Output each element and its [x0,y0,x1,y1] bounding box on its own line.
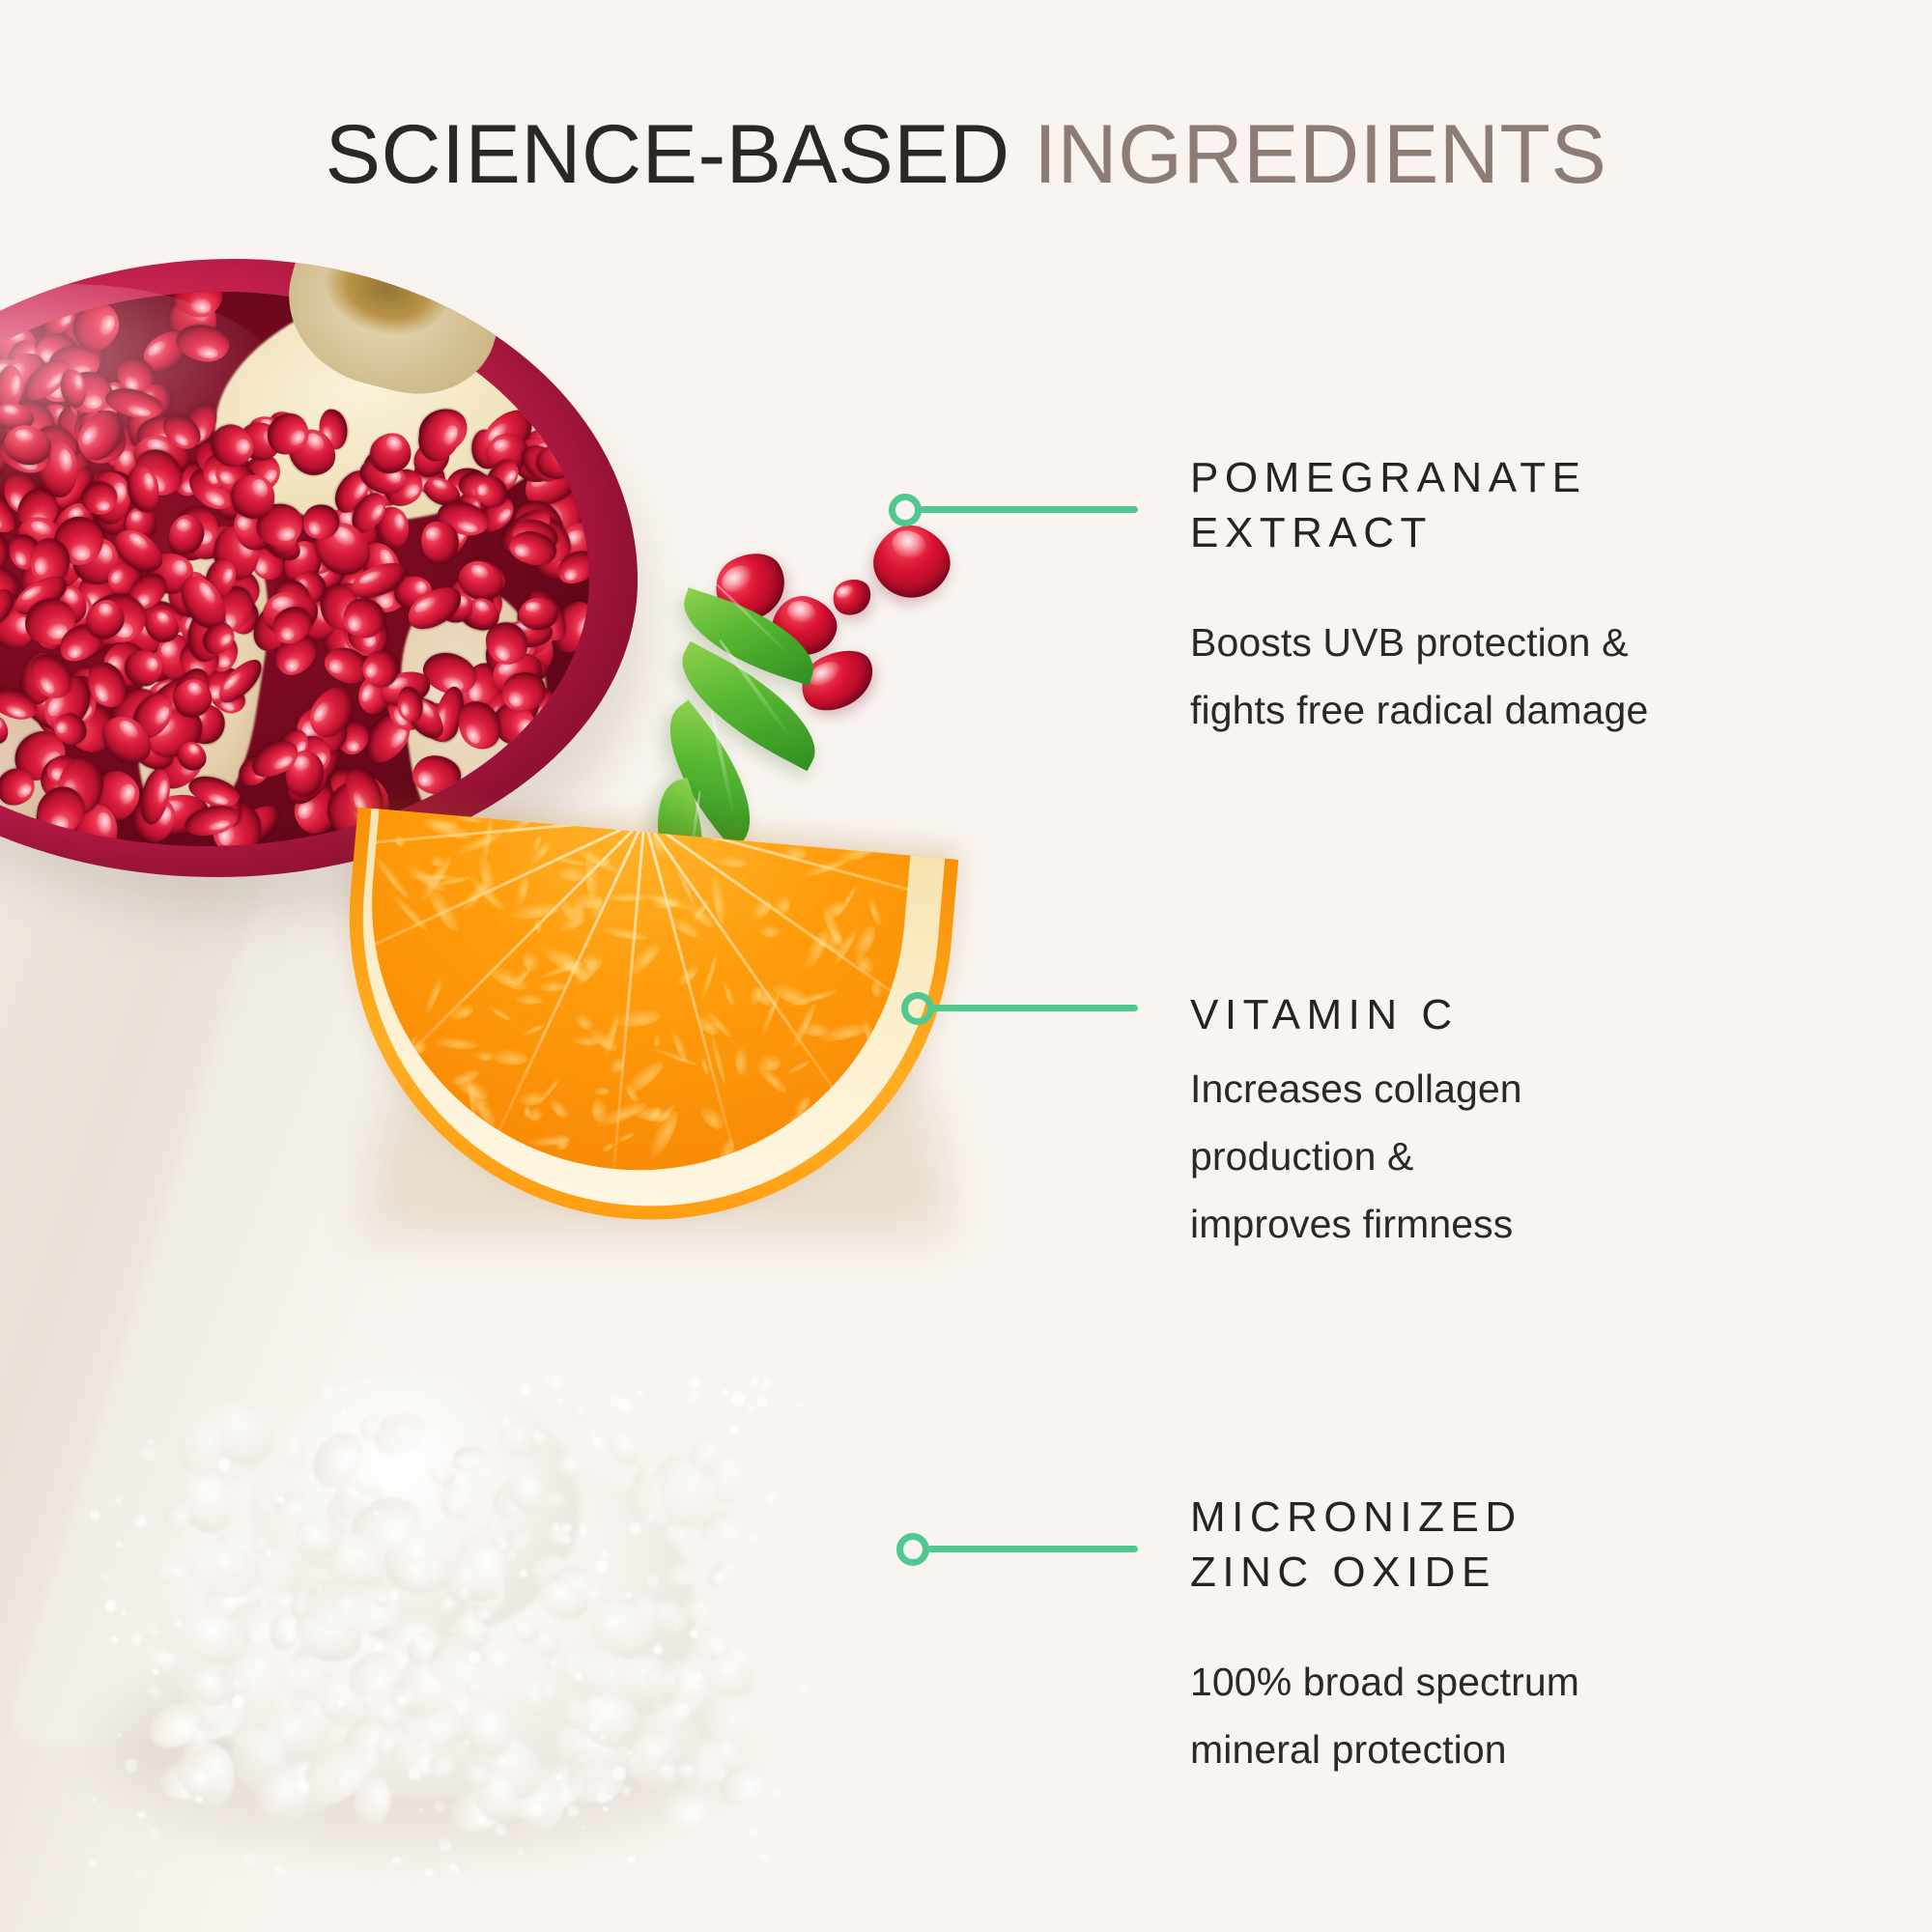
powder-speck [136,1873,140,1877]
powder-speck [597,1792,608,1803]
pomegranate-aril [168,292,227,322]
powder-speck [750,1828,758,1836]
powder-speck [105,1600,117,1611]
powder-speck [508,1551,516,1559]
pomegranate-aril [0,436,10,482]
powder-speck [612,1767,626,1780]
pomegranate-aril [64,371,111,415]
pomegranate-aril [0,359,31,395]
orange-pulp-highlight [783,1058,811,1076]
leader-line-pomegranate [920,506,1138,513]
powder-speck [757,1397,767,1406]
powder-clump [177,1416,223,1478]
pomegranate-aril [0,400,37,435]
orange-pulp-highlight [770,894,793,916]
powder-speck [561,1523,572,1534]
powder-speck [368,1696,374,1702]
powder-speck [469,1652,479,1662]
powder-speck [628,1856,636,1863]
powder-speck [731,1392,745,1406]
pomegranate-aril [102,384,165,424]
orange-pulp-highlight [654,1034,662,1048]
powder-speck [90,1510,99,1520]
pomegranate-aril [53,294,114,362]
orange-pulp-highlight [441,1102,463,1136]
powder-speck [589,1721,600,1732]
pomegranate-aril [0,420,55,470]
orange-pulp-highlight [780,843,807,862]
pomegranate-aril [132,377,181,425]
powder-speck [218,1459,230,1470]
powder-speck [143,1447,155,1459]
callout-dot-icon-pomegranate[interactable] [889,494,922,526]
powder-speck [276,1495,285,1504]
orange-pulp-highlight [446,1002,475,1023]
pomegranate-aril [0,529,8,571]
pomegranate-aril [70,390,120,448]
powder-speck [512,1506,518,1512]
powder-speck [730,1425,740,1435]
pomegranate-aril [74,407,121,456]
powder-speck [234,1682,238,1686]
powder-speck [224,1596,236,1607]
callout-dot-icon-vitamin-c[interactable] [901,992,934,1025]
powder-speck [232,1695,244,1708]
ingredient-description-zinc: 100% broad spectrum mineral protection [1190,1648,1866,1783]
powder-speck [499,1757,505,1763]
pomegranate-aril [98,421,151,475]
pomegranate-aril [123,405,172,460]
pomegranate-aril [131,412,182,455]
pomegranate-aril [65,400,132,469]
powder-speck [601,1550,610,1559]
powder-speck [665,1673,675,1684]
pomegranate-aril [37,401,73,439]
powder-speck [638,1389,643,1395]
orange-pulp-highlight [866,894,884,926]
powder-speck [340,1597,353,1609]
orange-pulp-highlight [350,913,371,961]
powder-speck [138,1811,145,1818]
powder-speck [647,1576,658,1586]
leader-line-zinc [927,1546,1138,1552]
pomegranate-aril [33,438,80,499]
powder-clump [567,1401,591,1426]
powder-speck [592,1437,603,1448]
orange-pulp-highlight [756,1054,781,1072]
powder-speck [723,1389,729,1396]
orange-pulp-highlight [392,832,407,848]
powder-speck [295,1802,298,1804]
powder-speck [126,1759,137,1771]
powder-speck [392,1857,402,1866]
powder-speck [455,1455,468,1467]
orange-pulp-highlight [489,1046,529,1067]
powder-speck [750,1535,757,1543]
ingredient-photo-stage [0,0,1082,1932]
powder-speck [688,1377,700,1389]
pomegranate-aril [69,402,132,469]
powder-speck [551,1375,563,1387]
pomegranate-aril [58,367,90,410]
pomegranate-aril [0,330,13,381]
powder-speck [757,1443,761,1447]
pomegranate-aril [124,463,162,515]
loose-pomegranate-seed [828,574,877,620]
orange-pulp-highlight [735,1044,749,1075]
powder-speck [537,1569,543,1575]
ingredient-heading-pomegranate: POMEGRANATE EXTRACT [1190,450,1808,560]
powder-speck [412,1634,424,1645]
pomegranate-aril [111,351,161,402]
ingredient-description-vitamin-c: Increases collagen production & improves… [1190,1055,1866,1258]
powder-speck [397,1696,406,1705]
powder-speck [322,1385,334,1398]
pomegranate-aril [65,294,127,358]
powder-speck [696,1673,703,1681]
pomegranate-aril [23,417,83,477]
pomegranate-aril [0,394,52,452]
pomegranate-aril [60,333,112,385]
powder-speck [440,1839,451,1851]
orange-pulp-highlight [547,1094,571,1122]
powder-speck [706,1840,710,1844]
powder-speck [373,1510,380,1517]
powder-speck [690,1630,698,1638]
powder-speck [567,1805,579,1817]
powder-speck [478,1816,486,1824]
pomegranate-aril [16,353,75,409]
powder-speck [377,1680,384,1687]
powder-speck [449,1498,462,1511]
orange-pulp-highlight [621,939,665,980]
powder-speck [107,1845,111,1849]
powder-speck [256,1661,265,1669]
powder-speck [496,1824,506,1834]
powder-speck [502,1417,510,1425]
pomegranate-aril [0,342,6,406]
powder-speck [274,1865,286,1877]
powder-speck [591,1430,595,1434]
powder-speck [587,1552,593,1558]
powder-speck [339,1702,344,1707]
orange-pulp-highlight [744,1152,765,1182]
orange-pulp-highlight [827,1082,844,1122]
orange-pulp-highlight [512,992,543,1005]
powder-speck [298,1781,310,1794]
pomegranate-aril [156,407,208,456]
ingredient-heading-zinc: MICRONIZED ZINC OXIDE [1190,1490,1808,1600]
powder-speck [799,1404,804,1408]
powder-speck [520,1384,532,1397]
orange-pulp-highlight [618,1056,668,1100]
powder-speck [627,1750,633,1756]
pomegranate-aril [86,390,120,425]
orange-pulp-highlight [698,952,720,1005]
powder-speck [456,1476,466,1486]
loose-pomegranate-seed [864,515,959,609]
pomegranate-aril [18,437,68,483]
powder-speck [294,1725,297,1728]
orange-pulp-highlight [671,962,701,989]
powder-speck [243,1854,256,1866]
orange-pulp-highlight [746,895,775,923]
powder-speck [425,1868,435,1878]
pomegranate-flesh [0,292,589,846]
orange-pulp-highlight [858,1089,873,1101]
powder-speck [121,1610,126,1615]
orange-slice-photo [340,833,958,1248]
orange-pulp-highlight [487,1003,513,1023]
pomegranate-aril [3,337,43,383]
powder-speck [747,1404,754,1411]
pomegranate-aril [57,400,114,443]
pomegranate-aril [62,370,120,427]
pomegranate-aril [0,428,55,480]
powder-speck [608,1703,614,1710]
powder-speck [729,1818,733,1822]
powder-speck [363,1479,371,1487]
powder-speck [409,1491,412,1494]
powder-speck [589,1588,599,1598]
pomegranate-aril [40,313,87,377]
orange-pulp-highlight [593,1087,610,1095]
powder-speck [450,1628,455,1633]
powder-speck [116,1543,121,1548]
orange-pulp-highlight [834,840,879,865]
powder-speck [434,1801,444,1811]
pomegranate-aril [0,347,11,405]
powder-speck [676,1703,690,1717]
pomegranate-aril [136,324,197,380]
powder-speck [237,1641,241,1646]
orange-pulp-highlight [722,978,737,1008]
powder-speck [134,1516,146,1527]
leader-line-vitamin-c [932,1005,1138,1011]
pomegranate-aril [48,344,101,382]
orange-pulp-highlight [599,923,649,943]
powder-speck [102,1575,108,1580]
zinc-oxide-powder-photo [29,1285,840,1913]
ingredient-description-pomegranate: Boosts UVB protection & fights free radi… [1190,609,1866,744]
pomegranate-aril [31,441,72,478]
ingredients-infographic: SCIENCE-BASED INGREDIENTS [0,0,1932,1932]
powder-speck [92,1798,97,1803]
pomegranate-aril [0,317,44,374]
powder-speck [517,1848,525,1856]
orange-pulp-highlight [612,1008,662,1030]
powder-speck [552,1522,560,1531]
pomegranate-aril [178,398,222,450]
powder-speck [581,1826,583,1829]
powder-speck [608,1619,617,1629]
ingredient-heading-vitamin-c: VITAMIN C [1190,987,1808,1042]
powder-speck [600,1759,604,1763]
pomegranate-aril [96,379,134,417]
pomegranate-aril [0,363,25,416]
powder-speck [751,1378,758,1385]
pomegranate-rind [0,259,638,877]
powder-speck [346,1487,357,1498]
pomegranate-aril [28,345,96,412]
powder-speck [359,1554,363,1558]
powder-speck [689,1391,700,1403]
powder-speck [167,1654,176,1662]
powder-speck [707,1532,711,1536]
powder-speck [559,1399,563,1403]
orange-pulp-highlight [431,1035,478,1052]
powder-speck [464,1739,469,1745]
powder-speck [545,1377,549,1380]
powder-speck [653,1645,663,1655]
orange-pulp-highlight [537,980,565,992]
powder-speck [448,1863,458,1873]
powder-speck [409,1768,421,1780]
pomegranate-aril [2,392,65,456]
orange-pulp-highlight [555,865,586,883]
page-title-secondary: INGREDIENTS [1034,108,1606,201]
powder-speck [342,1409,347,1414]
orange-pulp-highlight [758,923,781,938]
orange-pulp-highlight [872,978,884,997]
powder-speck [761,1853,768,1860]
powder-speck [622,1786,631,1795]
powder-speck [767,1492,777,1502]
pomegranate-aril [37,298,80,341]
pomegranate-aril [36,333,77,368]
pomegranate-aril [0,345,56,404]
pomegranate-aril [71,410,134,472]
powder-speck [111,1636,118,1643]
orange-pulp-highlight [524,1103,532,1118]
powder-speck [149,1829,159,1839]
orange-pulp-highlight [421,978,444,1016]
powder-speck [762,1379,770,1387]
pomegranate-aril [128,429,194,485]
orange-pulp-highlight [712,854,748,869]
pomegranate-aril [44,293,86,338]
powder-speck [574,1673,582,1682]
powder-speck [520,1570,527,1577]
powder-speck [148,1439,153,1444]
powder-speck [389,1590,399,1600]
pomegranate-aril [173,321,232,366]
callout-dot-icon-zinc[interactable] [896,1533,929,1566]
powder-speck [801,1684,808,1690]
orange-pulp-highlight [810,839,827,848]
powder-speck [89,1850,92,1853]
powder-speck [131,1634,142,1645]
powder-speck [621,1401,633,1412]
powder-speck [115,1497,122,1504]
powder-speck [772,1788,780,1796]
powder-speck [152,1668,158,1675]
powder-speck [89,1861,96,1867]
